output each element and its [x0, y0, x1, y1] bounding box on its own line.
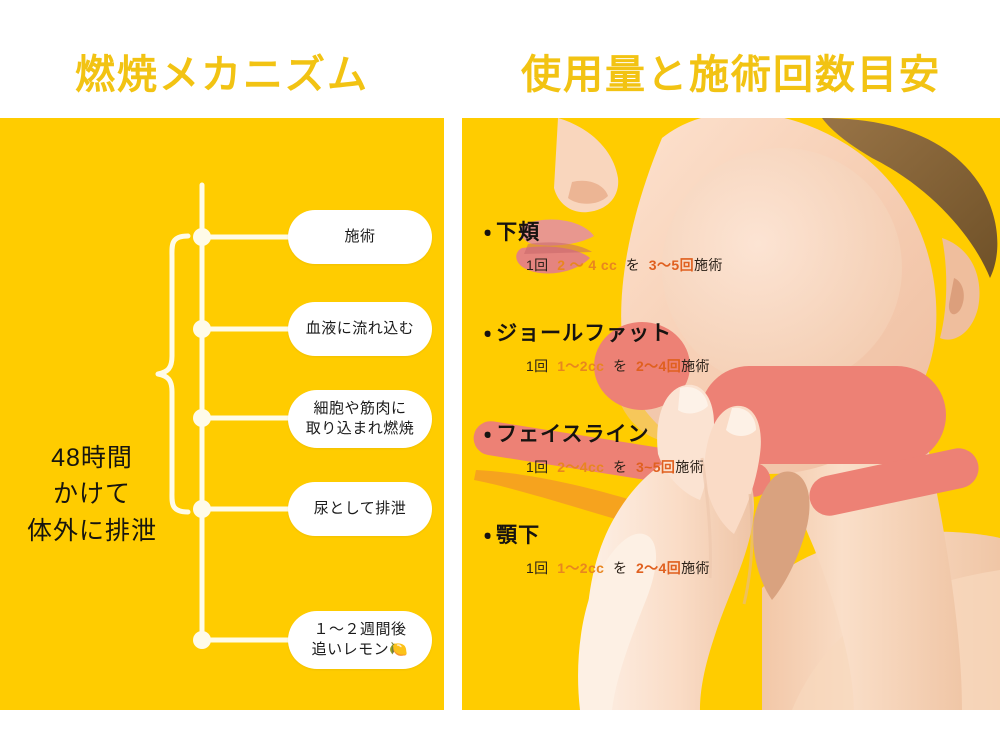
- dose-prefix: 1回: [526, 560, 549, 576]
- dose-count: 2〜4回: [636, 358, 681, 374]
- summary-line-3: 体外に排泄: [12, 513, 172, 549]
- dosage-list: ・下頬 1回 2 〜 4 cc を 3〜5回施術 ・ジョールファット 1回 1〜…: [484, 216, 784, 578]
- bullet-icon: ・: [484, 524, 492, 547]
- flow-step-3-label-line1: 細胞や筋肉に: [313, 399, 406, 419]
- dose-mid: を: [626, 257, 640, 273]
- dose-mid: を: [613, 358, 627, 374]
- dosage-panel: ・下頬 1回 2 〜 4 cc を 3〜5回施術 ・ジョールファット 1回 1〜…: [462, 118, 1000, 710]
- dose-suffix: 施術: [681, 560, 710, 576]
- dose-prefix: 1回: [526, 459, 549, 475]
- summary-line-1: 48時間: [12, 440, 172, 476]
- bullet-icon: ・: [484, 322, 492, 345]
- flow-node-1: [193, 228, 211, 246]
- flow-step-4[interactable]: 尿として排泄: [288, 482, 432, 536]
- dose-count: 3〜5回: [649, 257, 694, 273]
- dosage-item-lower-cheek-detail: 1回 2 〜 4 cc を 3〜5回施術: [526, 255, 784, 275]
- dose-count: 2〜4回: [636, 560, 681, 576]
- dose-count: 3~5回: [636, 459, 675, 475]
- flow-step-5[interactable]: １〜２週間後 追いレモン🍋: [288, 611, 432, 669]
- dosage-item-under-chin-heading: ・顎下: [484, 519, 784, 549]
- dose-prefix: 1回: [526, 257, 549, 273]
- flow-step-1[interactable]: 施術: [288, 210, 432, 264]
- flow-step-3[interactable]: 細胞や筋肉に 取り込まれ燃焼: [288, 390, 432, 448]
- dosage-item-lower-cheek-area: 下頬: [496, 221, 540, 244]
- dose-mid: を: [613, 459, 627, 475]
- dosage-item-face-line-detail: 1回 2〜4cc を 3~5回施術: [526, 457, 784, 477]
- bullet-icon: ・: [484, 221, 492, 244]
- flow-step-3-label-line2: 取り込まれ燃焼: [306, 419, 415, 439]
- dose-prefix: 1回: [526, 358, 549, 374]
- dose-mid: を: [613, 560, 627, 576]
- dose-amount: 1〜2cc: [557, 560, 604, 576]
- dosage-item-jowl-fat-detail: 1回 1〜2cc を 2〜4回施術: [526, 356, 784, 376]
- dosage-item-under-chin-detail: 1回 1〜2cc を 2〜4回施術: [526, 558, 784, 578]
- flow-step-4-label: 尿として排泄: [314, 499, 407, 519]
- summary-line-2: かけて: [12, 476, 172, 512]
- flow-step-2-label: 血液に流れ込む: [306, 319, 415, 339]
- dose-suffix: 施術: [694, 257, 723, 273]
- dose-amount: 1〜2cc: [557, 358, 604, 374]
- flow-step-2[interactable]: 血液に流れ込む: [288, 302, 432, 356]
- dosage-item-jowl-fat[interactable]: ・ジョールファット 1回 1〜2cc を 2〜4回施術: [484, 317, 784, 376]
- flow-node-4: [193, 500, 211, 518]
- flow-node-3: [193, 409, 211, 427]
- dosage-item-face-line-area: フェイスライン: [496, 423, 649, 446]
- flow-node-5: [193, 631, 211, 649]
- dosage-item-jowl-fat-area: ジョールファット: [496, 322, 672, 345]
- page-title-left: 燃焼メカニズム: [0, 42, 444, 100]
- dose-suffix: 施術: [675, 459, 704, 475]
- dose-amount: 2〜4cc: [557, 459, 604, 475]
- flow-node-2: [193, 320, 211, 338]
- dosage-item-under-chin-area: 顎下: [496, 524, 540, 547]
- flow-step-1-label: 施術: [344, 227, 375, 247]
- dosage-item-lower-cheek[interactable]: ・下頬 1回 2 〜 4 cc を 3〜5回施術: [484, 216, 784, 275]
- dose-suffix: 施術: [681, 358, 710, 374]
- bullet-icon: ・: [484, 423, 492, 446]
- dosage-item-jowl-fat-heading: ・ジョールファット: [484, 317, 784, 347]
- summary-text: 48時間 かけて 体外に排泄: [12, 440, 172, 549]
- mechanism-panel: 48時間 かけて 体外に排泄 施術 血液に流れ込む 細胞や筋肉に 取り込まれ燃焼…: [0, 118, 444, 710]
- dosage-item-face-line[interactable]: ・フェイスライン 1回 2〜4cc を 3~5回施術: [484, 418, 784, 477]
- dosage-item-face-line-heading: ・フェイスライン: [484, 418, 784, 448]
- flow-step-5-label-line1: １〜２週間後: [313, 620, 406, 640]
- page-title-right: 使用量と施術回数目安: [462, 42, 1000, 100]
- dosage-item-lower-cheek-heading: ・下頬: [484, 216, 784, 246]
- flow-step-5-label-line2: 追いレモン🍋: [312, 640, 409, 660]
- dosage-item-under-chin[interactable]: ・顎下 1回 1〜2cc を 2〜4回施術: [484, 519, 784, 578]
- dose-amount: 2 〜 4 cc: [557, 257, 617, 273]
